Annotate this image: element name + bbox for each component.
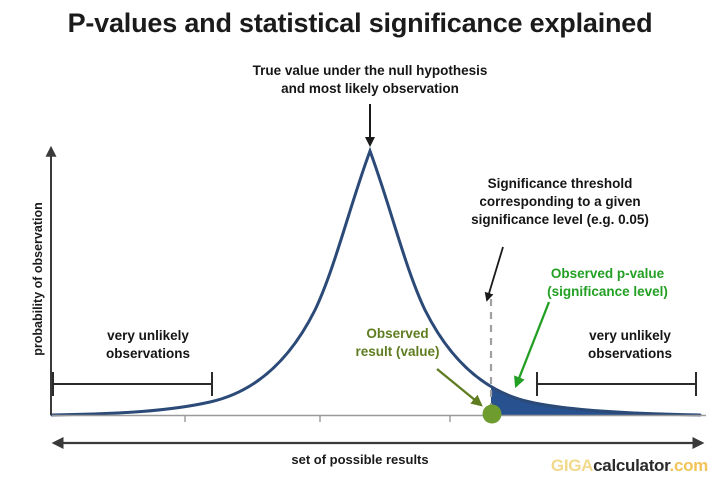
logo-giga-text: GIGA bbox=[551, 456, 593, 475]
annotation-observed-pvalue: Observed p-value (significance level) bbox=[520, 265, 695, 301]
annotation-very-unlikely-left: very unlikely observations bbox=[78, 327, 218, 363]
gigacalculator-logo: GIGAcalculator.com bbox=[551, 456, 708, 476]
logo-dotcom-text: .com bbox=[670, 456, 708, 475]
bracket-very-unlikely-left bbox=[52, 372, 213, 396]
annotation-null-hypothesis: True value under the null hypothesis and… bbox=[215, 62, 525, 98]
bracket-very-unlikely-right bbox=[536, 372, 697, 396]
observed-pvalue-arrow bbox=[516, 302, 549, 386]
logo-calculator-text: calculator bbox=[593, 456, 669, 475]
observed-result-point bbox=[483, 405, 502, 424]
annotation-significance-threshold: Significance threshold corresponding to … bbox=[440, 175, 680, 228]
y-axis-label: probability of observation bbox=[31, 179, 45, 379]
diagram-canvas: P-values and statistical significance ex… bbox=[0, 0, 720, 485]
annotation-observed-result: Observed result (value) bbox=[330, 325, 465, 361]
annotation-very-unlikely-right: very unlikely observations bbox=[560, 327, 700, 363]
significance-threshold-arrow bbox=[487, 247, 503, 300]
